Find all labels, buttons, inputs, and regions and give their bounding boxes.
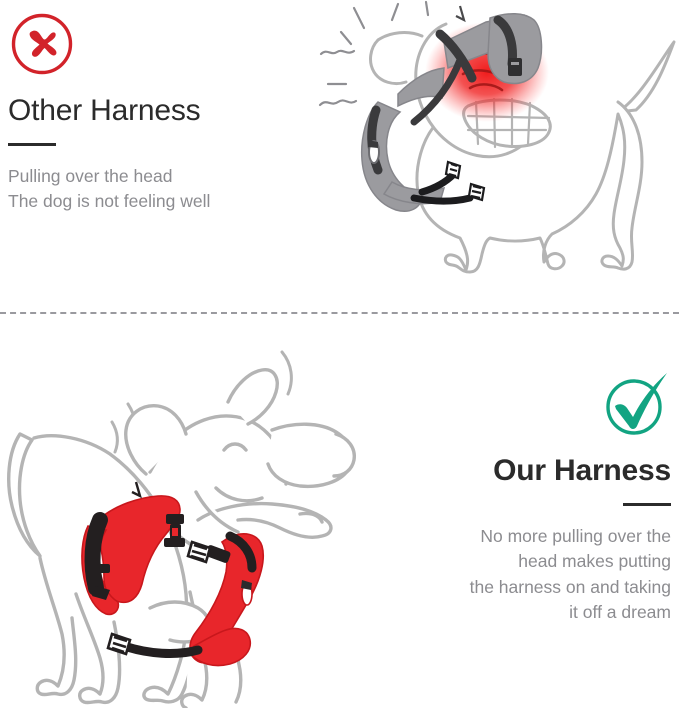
dog-pain-svg xyxy=(318,2,679,302)
our-harness-text-panel: Our Harness No more pulling over the hea… xyxy=(358,370,671,626)
other-harness-text-panel: Other Harness Pulling over the head The … xyxy=(8,10,328,215)
section-divider xyxy=(0,312,679,314)
buckle-icon xyxy=(508,58,522,76)
title-underline-rule-other xyxy=(8,143,56,146)
check-circle-icon xyxy=(603,370,671,438)
cross-circle-icon xyxy=(8,10,76,78)
page-title-other: Other Harness xyxy=(8,94,328,127)
other-harness-description: Pulling over the head The dog is not fee… xyxy=(8,164,328,215)
dog-pain-illustration xyxy=(318,2,679,302)
dog-happy-svg xyxy=(0,342,390,708)
title-underline-rule-our xyxy=(623,503,671,506)
page-title-our: Our Harness xyxy=(358,454,671,487)
our-harness-description: No more pulling over the head makes putt… xyxy=(358,524,671,626)
dog-happy-illustration xyxy=(0,342,390,708)
comparison-infographic: Other Harness Pulling over the head The … xyxy=(0,0,679,708)
